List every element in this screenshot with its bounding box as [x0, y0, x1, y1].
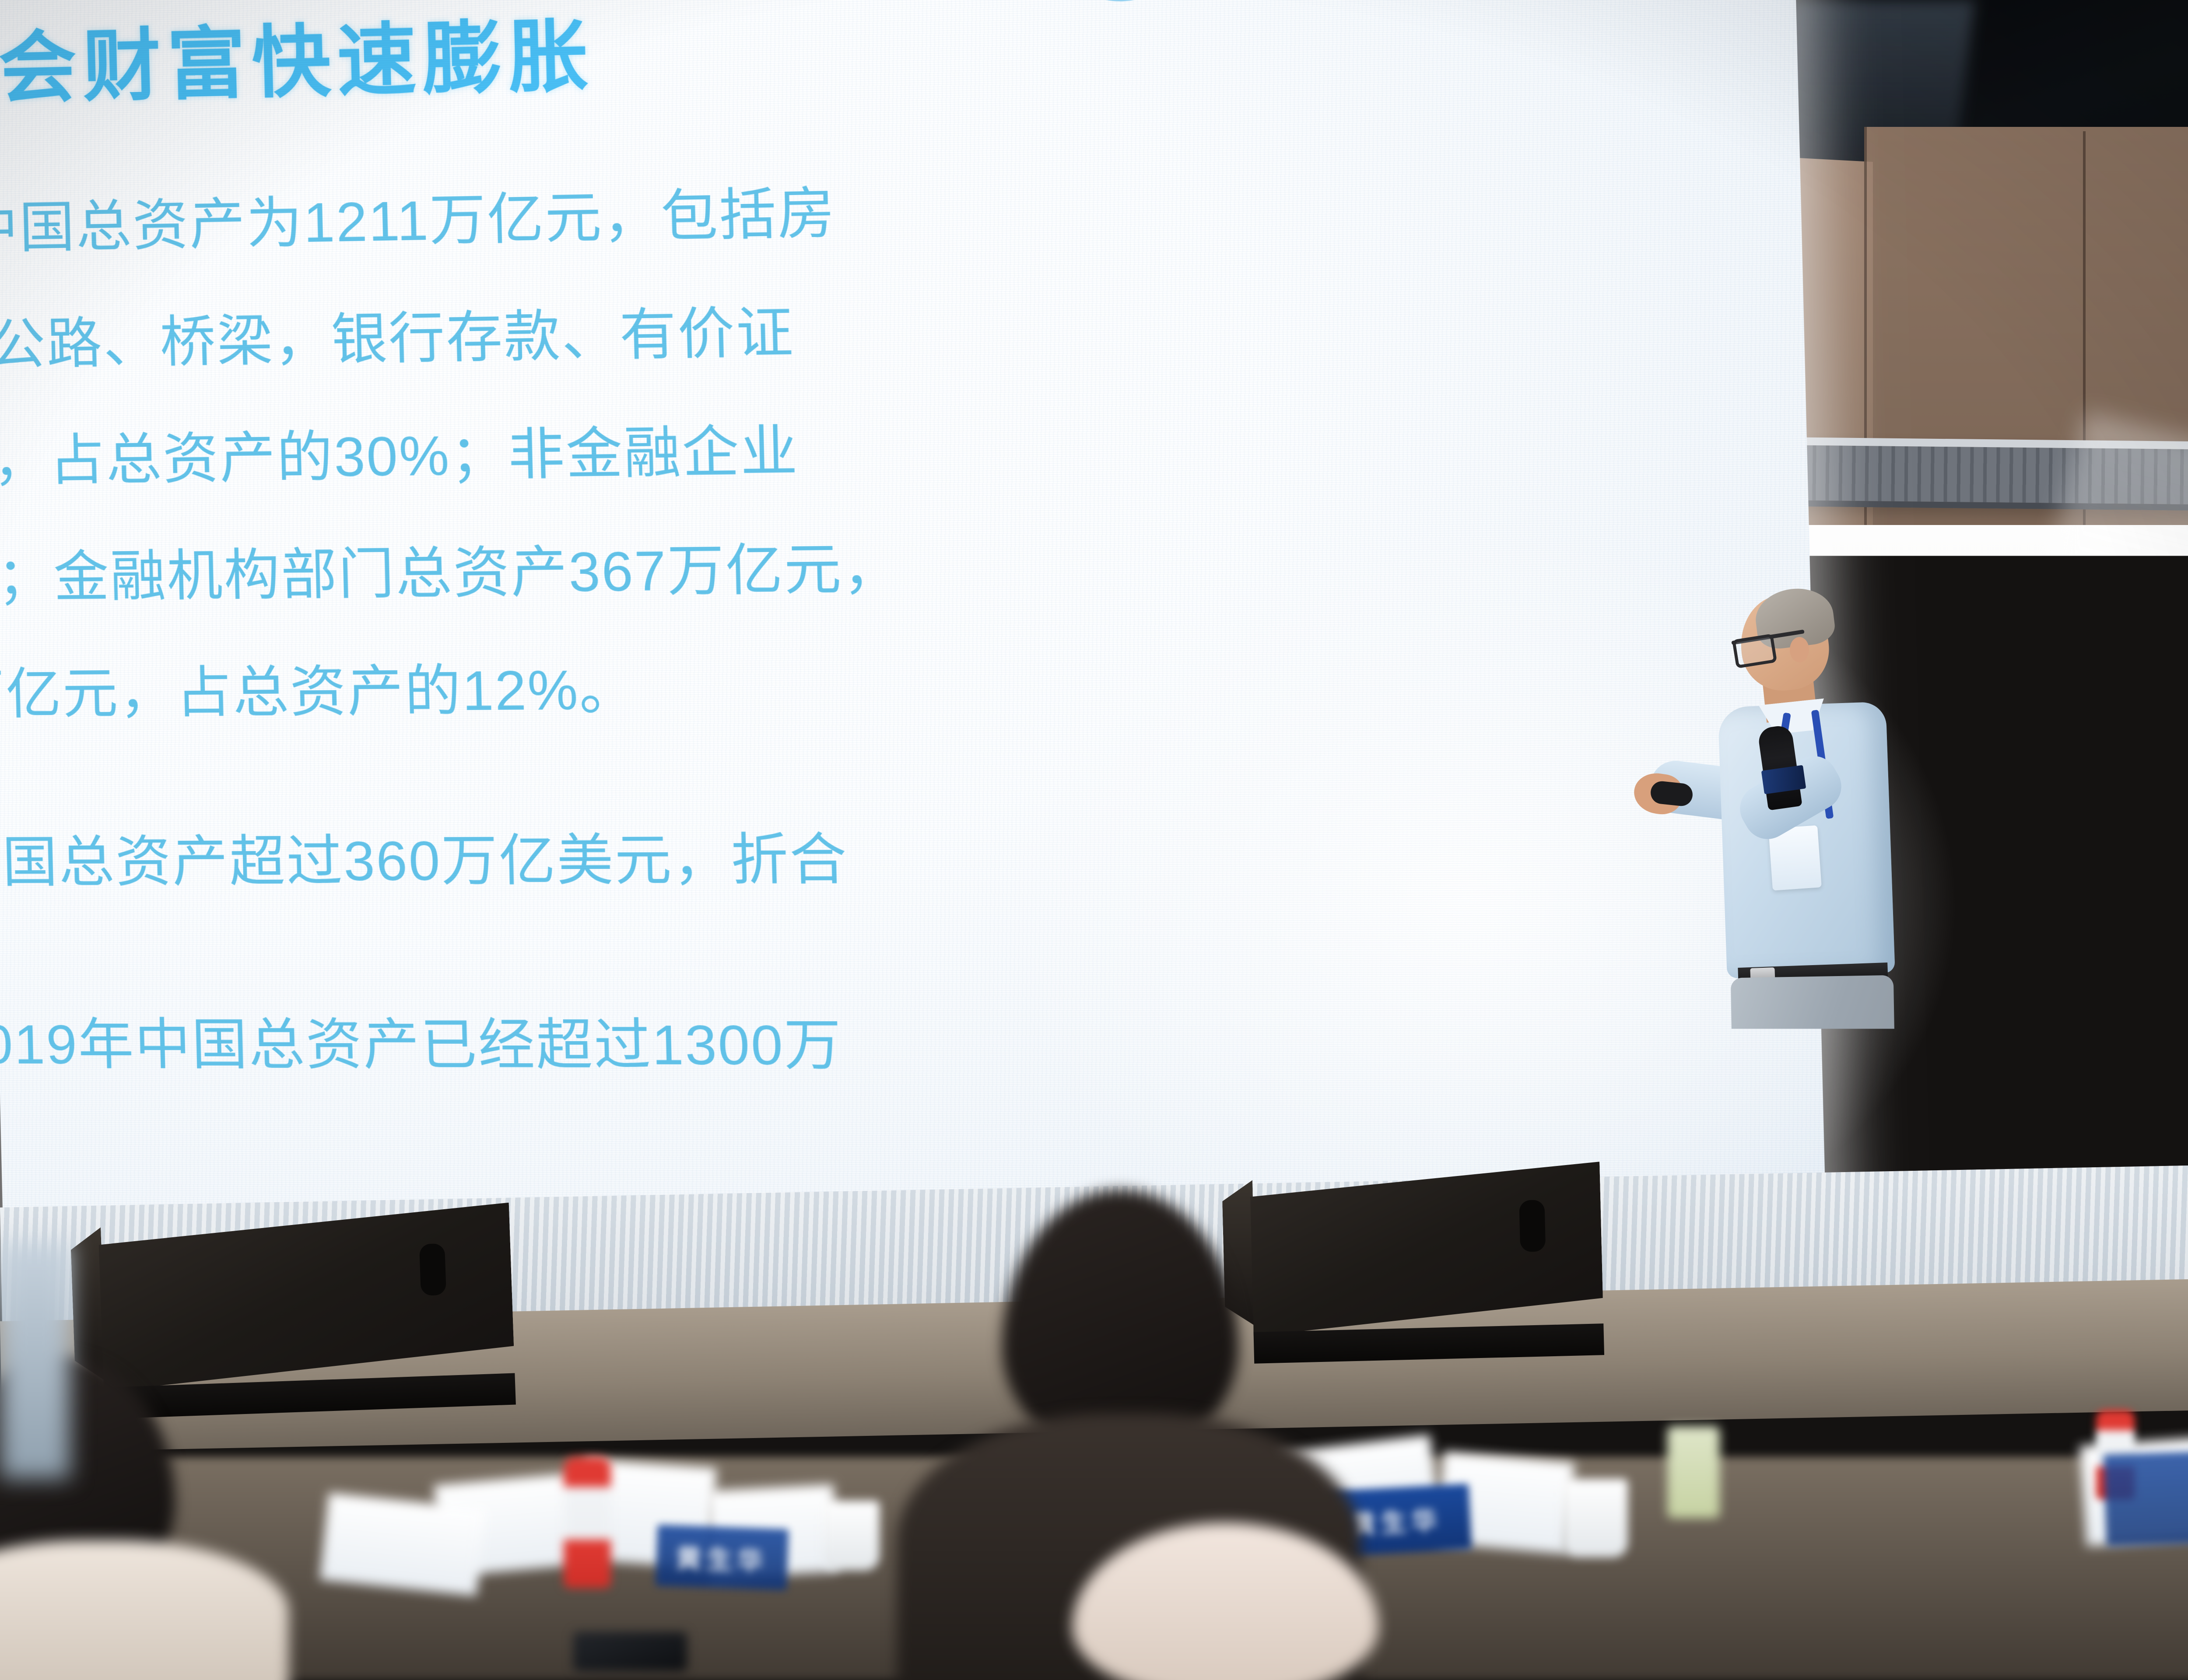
slide-line: ，2019年中国总资产已经超过1300万 [0, 986, 1521, 1106]
slide-line: 46万亿元，占总资产的12%。 [0, 623, 1512, 753]
projection-screen: 求是 管理学院 SCHOOL OF MANAGEMENT ZHEJIANG UN… [0, 0, 1828, 1289]
university-seal-icon: 求是 [1045, 0, 1195, 4]
tent-card [320, 1493, 486, 1596]
presenter-ear [1790, 637, 1809, 662]
stage-monitor-speaker [98, 1203, 515, 1392]
audience-member-body [1799, 1496, 2188, 1680]
name-card-text: 黄生华 [1349, 1500, 1443, 1541]
paper-cup [1562, 1479, 1628, 1557]
smartphone [573, 1632, 687, 1671]
water-bottle [564, 1457, 611, 1588]
slide-line: 亿元，占总资产的30%；非金融企业 [0, 382, 1507, 521]
backdrop-panel-right [2030, 647, 2188, 1168]
paper-cup [823, 1501, 880, 1571]
foreground-blur [0, 1242, 70, 1479]
stage-monitor-speaker [1920, 1161, 2188, 1329]
audience-name-card: 黄生华 [656, 1525, 789, 1590]
slide-line: 年美国总资产超过360万亿美元，折合 [0, 797, 1517, 921]
slide-title: 社会财富快速膨胀 [0, 0, 596, 120]
name-card-text: 黄生华 [676, 1537, 769, 1577]
slide-body-text: 6年中国总资产为1211万亿元，包括房 路、公路、桥梁，银行存款、有价证 亿元，… [0, 141, 1521, 1106]
pavilion-roof-right [2048, 645, 2188, 719]
slide-line: 28%；金融机构部门总资产367万亿元， [0, 503, 1510, 637]
seal-glyph: 求是 [1048, 0, 1192, 1]
tea-glass [1667, 1426, 1720, 1518]
slide-line: 路、公路、桥梁，银行存款、有价证 [0, 262, 1504, 405]
stage-monitor-speaker [1249, 1162, 1603, 1336]
photo-canvas: 求是 管理学院 SCHOOL OF MANAGEMENT ZHEJIANG UN… [0, 0, 2188, 1680]
